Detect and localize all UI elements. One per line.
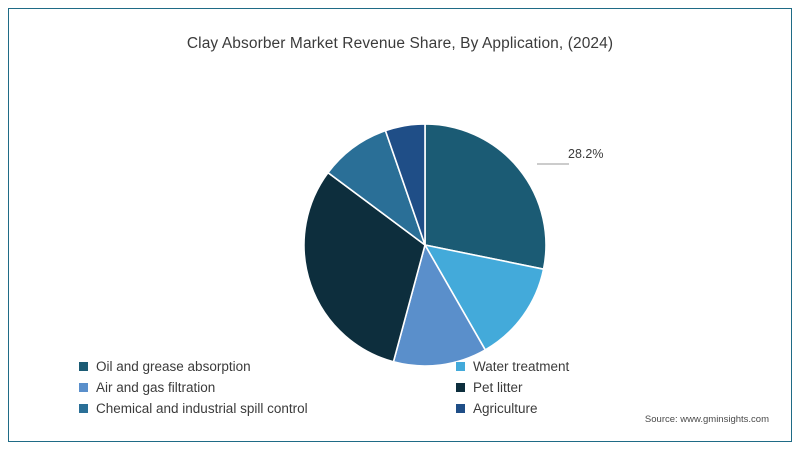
legend-item[interactable]: Pet litter	[456, 377, 569, 398]
source-attribution: Source: www.gminsights.com	[645, 414, 769, 425]
chart-card: Clay Absorber Market Revenue Share, By A…	[8, 8, 792, 442]
legend-swatch-icon	[79, 404, 88, 413]
legend-item-label: Pet litter	[473, 380, 523, 395]
legend-item[interactable]: Chemical and industrial spill control	[79, 398, 308, 419]
legend-item[interactable]: Air and gas filtration	[79, 377, 308, 398]
legend-item-label: Oil and grease absorption	[96, 359, 251, 374]
legend-item[interactable]: Agriculture	[456, 398, 569, 419]
legend-item-label: Chemical and industrial spill control	[96, 401, 308, 416]
legend-item-label: Water treatment	[473, 359, 569, 374]
legend-swatch-icon	[456, 362, 465, 371]
pie-slice[interactable]	[425, 124, 546, 269]
legend-item[interactable]: Water treatment	[456, 356, 569, 377]
legend-column-right: Water treatment Pet litter Agriculture	[456, 356, 569, 419]
legend-item-label: Agriculture	[473, 401, 538, 416]
legend-item[interactable]: Oil and grease absorption	[79, 356, 308, 377]
legend-swatch-icon	[79, 362, 88, 371]
pie-slice-group	[304, 124, 546, 366]
legend-swatch-icon	[456, 404, 465, 413]
legend-column-left: Oil and grease absorption Air and gas fi…	[79, 356, 308, 419]
legend-swatch-icon	[79, 383, 88, 392]
legend-item-label: Air and gas filtration	[96, 380, 215, 395]
legend-swatch-icon	[456, 383, 465, 392]
pie-slice-percent-label: 28.2%	[568, 147, 603, 161]
